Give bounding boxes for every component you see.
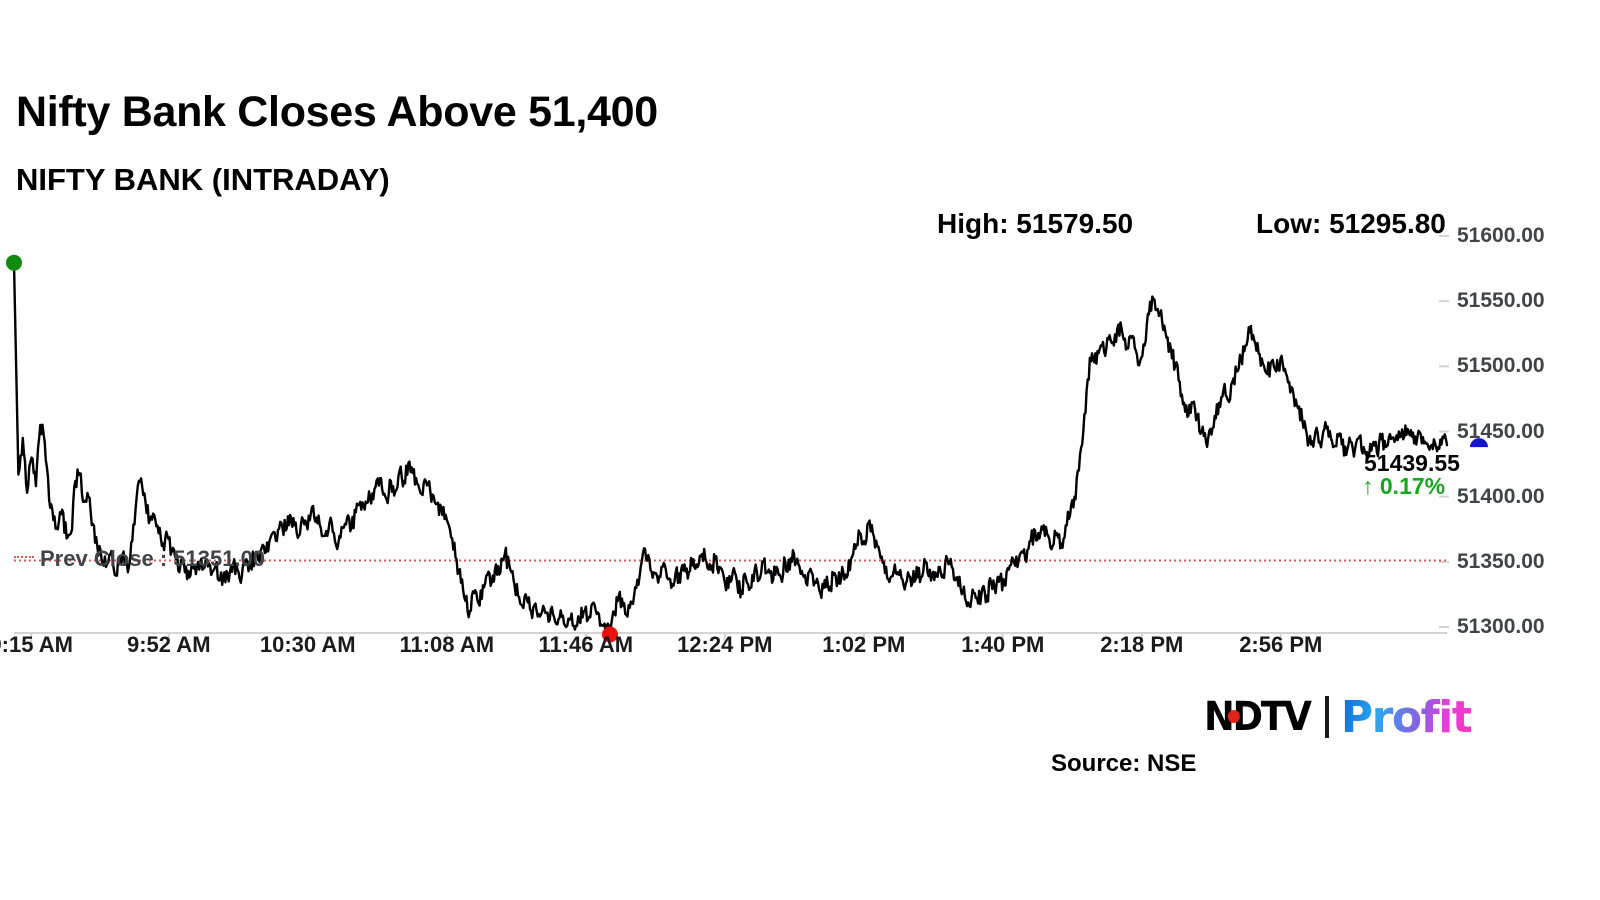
chart-container: Nifty Bank Closes Above 51,400 NIFTY BAN…: [0, 0, 1600, 900]
last-change-label: ↑ 0.17%: [1362, 473, 1445, 500]
prev-close-line-swatch: [14, 556, 34, 558]
x-tick-label: 10:30 AM: [260, 632, 356, 658]
ndtv-profit-logo: NDTV Profit: [1204, 694, 1471, 740]
source-label: Source: NSE: [1051, 750, 1196, 778]
ndtv-text: NDTV: [1204, 694, 1310, 740]
logo-divider: [1325, 696, 1329, 738]
ndtv-wordmark: NDTV: [1204, 694, 1310, 740]
y-tick-label: 51350.00: [1457, 550, 1545, 574]
y-tick-label: 51400.00: [1457, 485, 1545, 509]
y-tick-label: 51300.00: [1457, 615, 1545, 639]
profit-wordmark: Profit: [1341, 692, 1471, 743]
x-tick-label: 2:56 PM: [1239, 632, 1322, 658]
ndtv-red-dot-icon: [1228, 710, 1240, 723]
y-tick-label: 51450.00: [1457, 420, 1545, 444]
y-tick-label: 51550.00: [1457, 289, 1545, 313]
x-tick-label: 1:40 PM: [961, 632, 1044, 658]
price-plot: [0, 0, 1600, 900]
x-tick-label: 2:18 PM: [1100, 632, 1183, 658]
x-tick-label: 9:52 AM: [127, 632, 211, 658]
x-tick-label: 11:08 AM: [399, 632, 494, 658]
x-tick-label: 12:24 PM: [677, 632, 772, 658]
prev-close-label: Prev Close : 51351.00: [40, 546, 265, 572]
y-tick-label: 51600.00: [1457, 224, 1545, 248]
y-tick-label: 51500.00: [1457, 354, 1545, 378]
x-tick-label: 9:15 AM: [0, 632, 73, 658]
high-marker: [6, 255, 22, 271]
x-tick-label: 1:02 PM: [822, 632, 905, 658]
x-tick-label: 11:46 AM: [538, 632, 633, 658]
